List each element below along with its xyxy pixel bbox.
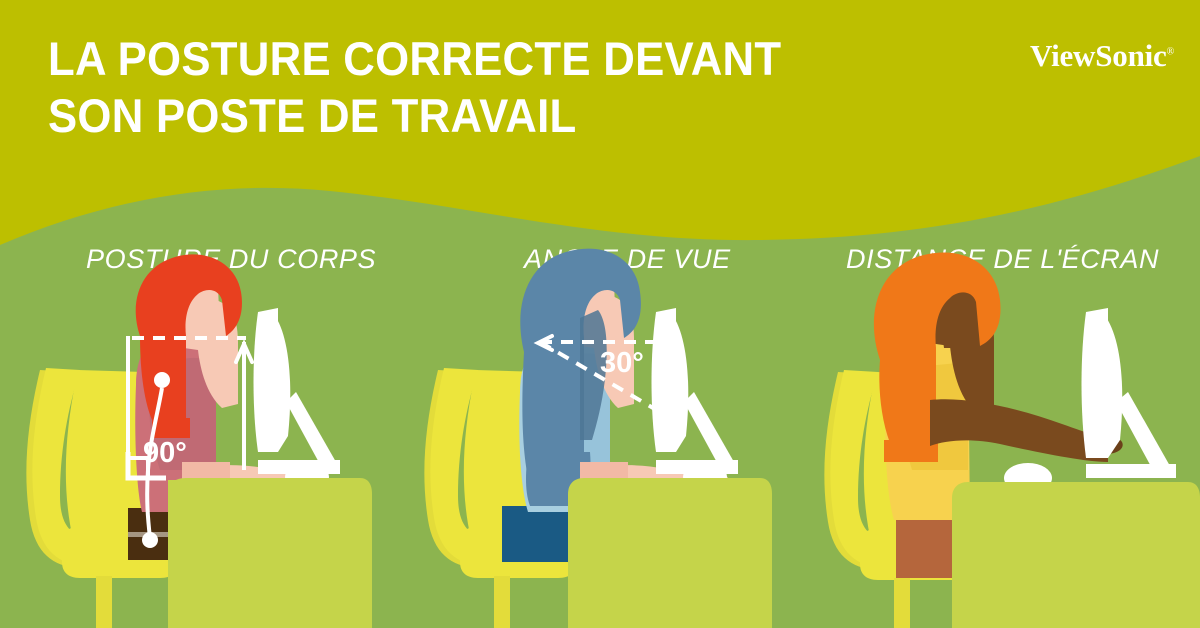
angle-label-90: 90°	[143, 437, 187, 469]
panel-1-illustration: 90°	[26, 254, 372, 628]
monitor-2	[652, 308, 739, 474]
desk-3	[952, 482, 1200, 628]
earbud-icon	[154, 372, 170, 388]
panel-2-illustration: 30°	[424, 249, 772, 628]
monitor-1	[254, 308, 341, 474]
panel-3-illustration	[824, 253, 1200, 628]
angle-label-30: 30°	[600, 347, 644, 379]
infographic-canvas: LA POSTURE CORRECTE DEVANT SON POSTE DE …	[0, 0, 1200, 628]
illustration-layer: 90°	[0, 0, 1200, 628]
desk-2	[568, 478, 772, 628]
monitor-3	[1082, 308, 1177, 478]
